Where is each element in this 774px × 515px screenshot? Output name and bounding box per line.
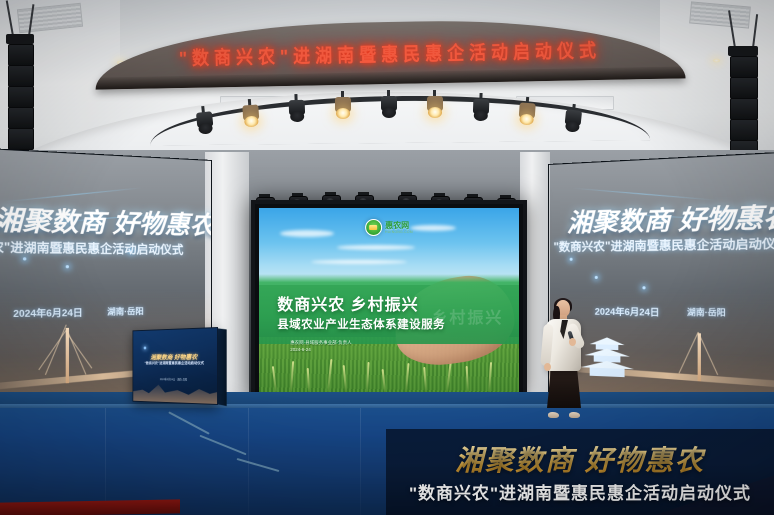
wheat-blade — [290, 361, 294, 392]
par-light-3 — [288, 100, 307, 123]
presenter-hand-holding-mic — [569, 338, 576, 346]
podium-subtitle: "数商兴农"进湖南暨惠民惠企活动启动仪式 — [133, 361, 217, 366]
wheat-blade — [342, 365, 346, 392]
slide-cloud — [311, 260, 407, 264]
arch-led-text: "数商兴农"进湖南暨惠民惠企活动启动仪式 — [179, 34, 602, 70]
podium-sparkle — [144, 346, 146, 349]
huinong-logo-wordsub: HUINONG.COM — [385, 230, 413, 234]
podium-meta: 2024年6月24日 · 湖南·岳阳 — [133, 377, 217, 382]
line-array-speaker-right — [728, 46, 758, 158]
bridge-cable — [39, 330, 67, 370]
huinong-logo-mark — [365, 219, 382, 236]
presenter-shoe-right — [569, 412, 580, 418]
wheat-blade — [466, 366, 469, 392]
podium-front-panel: 湘聚数商 好物惠农 "数商兴农"进湖南暨惠民惠企活动启动仪式 2024年6月24… — [132, 327, 218, 405]
ceiling-vent-left — [17, 3, 83, 34]
led-wall-right-title: 湘聚数商 好物惠农 — [567, 196, 774, 240]
huinong-logo-wordmark: 惠农网 — [385, 222, 413, 230]
caption-title: 湘聚数商 好物惠农 — [386, 439, 774, 479]
led-wall-left-subtitle: "数商兴农"进湖南暨惠民惠企活动启动仪式 — [0, 237, 183, 257]
par-light-6 — [426, 96, 444, 118]
wheat-blade — [307, 368, 310, 392]
podium-title: 湘聚数商 好物惠农 — [133, 351, 217, 361]
presenter-skirt — [547, 367, 581, 408]
event-stage-photo: "数商兴农"进湖南暨惠民惠企活动启动仪式 — [0, 0, 774, 515]
stage-skirt-fold — [360, 408, 361, 515]
caption-subtitle: "数商兴农"进湖南暨惠民惠企活动启动仪式 — [386, 479, 774, 504]
ceiling-vent-right — [689, 1, 751, 28]
par-light-8 — [517, 102, 536, 125]
presentation-slide: 惠农网 HUINONG.COM 乡村振兴 数商兴农 乡村振兴 县域农业产业生态体… — [259, 208, 519, 392]
wheat-blade — [424, 367, 428, 392]
bridge-cable — [678, 332, 698, 373]
par-light-1 — [195, 111, 215, 135]
led-sparkle — [66, 265, 69, 268]
stage-skirt-fold — [105, 408, 106, 515]
slide-subheadline: 县域农业产业生态体系建设服务 — [277, 316, 445, 332]
bridge-pylon — [697, 333, 700, 381]
wheat-blade — [271, 366, 276, 392]
main-presentation-screen: 惠农网 HUINONG.COM 乡村振兴 数商兴农 乡村振兴 县域农业产业生态体… — [251, 200, 527, 400]
caption-overlay: 湘聚数商 好物惠农 "数商兴农"进湖南暨惠民惠企活动启动仪式 — [386, 429, 774, 515]
pagoda-base — [590, 367, 625, 377]
slide-cloud — [410, 225, 456, 231]
led-wall-left-location: 湖南·岳阳 — [107, 306, 143, 318]
par-light-2 — [241, 104, 260, 127]
par-light-4 — [334, 97, 352, 119]
led-wall-left-date: 2024年6月24日 — [13, 305, 83, 320]
slide-cloud — [337, 245, 415, 250]
huinong-logo: 惠农网 HUINONG.COM — [365, 219, 413, 236]
led-sparkle — [595, 276, 598, 279]
red-carpet — [0, 499, 180, 515]
line-array-speaker-left — [6, 34, 34, 146]
led-wall-right-date: 2024年6月24日 — [595, 305, 660, 319]
wheat-blade — [366, 362, 370, 392]
led-wall-right-subtitle: "数商兴农"进湖南暨惠民惠企活动启动仪式 — [553, 235, 774, 255]
slide-presenter-date: 2024-6-24 — [290, 346, 352, 354]
par-light-7 — [472, 99, 491, 122]
slide-presenter-meta: 惠农网·县域服务事业部·负责人 2024-6-24 — [290, 339, 352, 354]
wheat-blade — [446, 360, 452, 392]
slide-headline: 数商兴农 乡村振兴 — [277, 291, 418, 315]
presenter-person — [536, 300, 594, 418]
podium: 湘聚数商 好物惠农 "数商兴农"进湖南暨惠民惠企活动启动仪式 2024年6月24… — [132, 327, 218, 405]
led-wall-right-location: 湖南·岳阳 — [687, 307, 726, 319]
bridge-cable — [66, 332, 92, 368]
par-light-9 — [563, 109, 583, 133]
led-wall-left-title: 湘聚数商 好物惠农 — [0, 199, 212, 242]
presenter-shoe-left — [548, 412, 559, 418]
slide-presenter-line: 惠农网·县域服务事业部·负责人 — [290, 339, 352, 347]
wheat-blade — [327, 359, 332, 392]
led-sparkle — [642, 286, 645, 289]
downlight-8 — [712, 58, 721, 63]
podium-side-panel — [217, 328, 227, 406]
wheat-blade — [405, 363, 410, 392]
slide-cloud — [280, 230, 334, 237]
led-sparkle — [23, 257, 26, 260]
par-light-5 — [380, 96, 398, 118]
led-sparkle — [569, 258, 572, 261]
presenter-hand-lower — [544, 363, 551, 371]
wheat-blade — [381, 369, 385, 392]
wheat-blade — [488, 362, 492, 392]
